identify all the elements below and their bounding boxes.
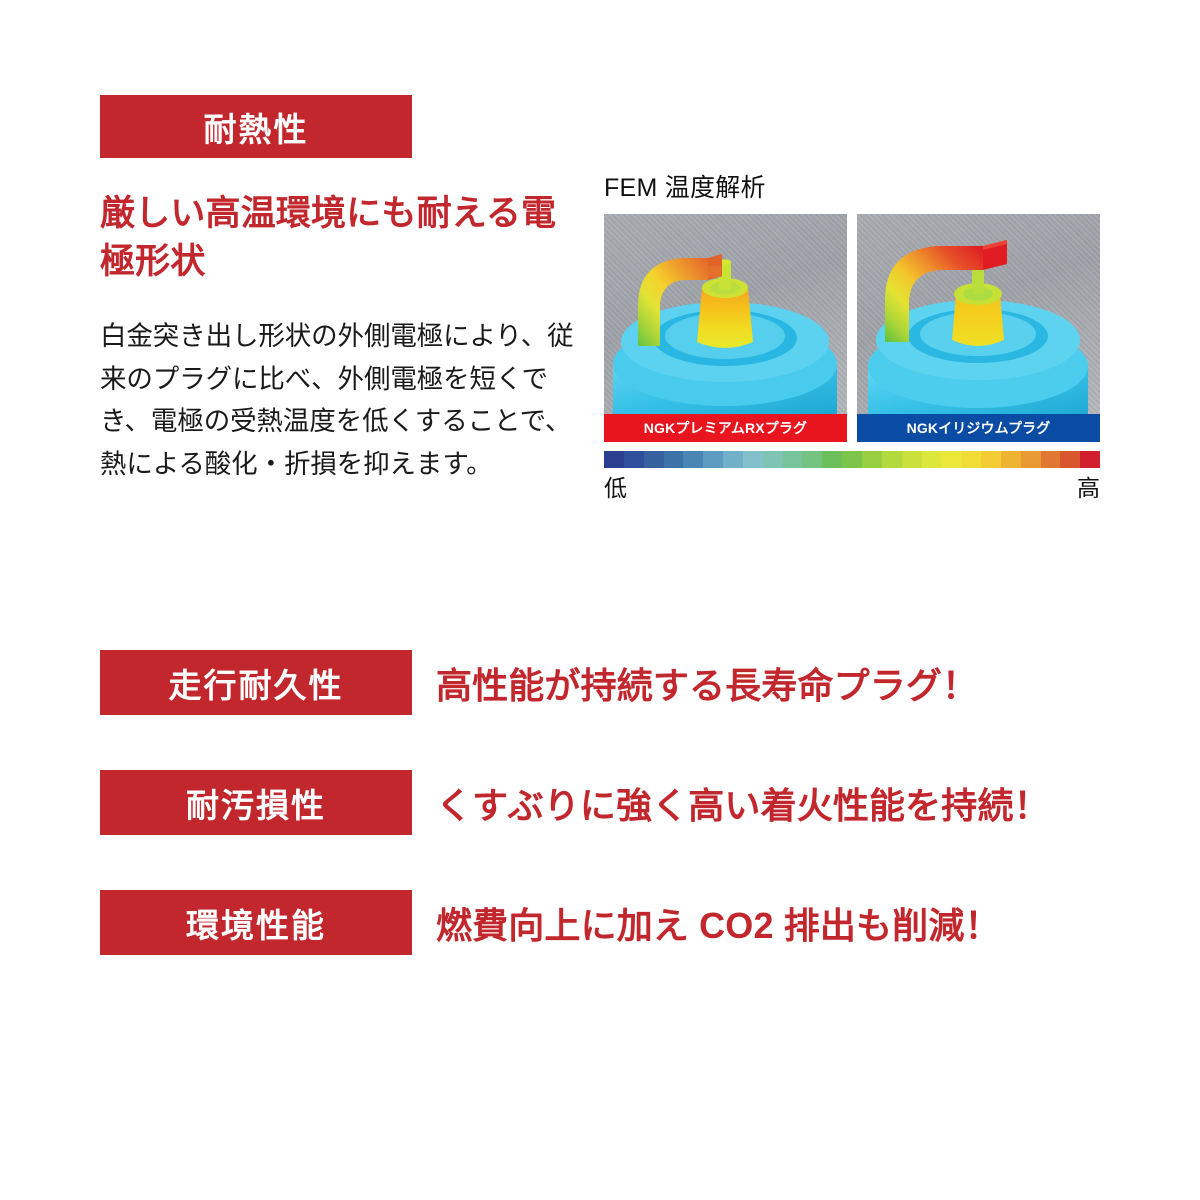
- heat-resistance-headline: 厳しい高温環境にも耐える電極形状: [100, 190, 590, 287]
- fem-color-scale: 低 高: [604, 451, 1100, 503]
- fem-scale-band-5: [703, 451, 723, 468]
- fem-scale-band-23: [1060, 451, 1080, 468]
- fem-thermal-render-iridium: [857, 214, 1100, 414]
- feature-row: 環境性能燃費向上に加え CO2 排出も削減！: [100, 890, 1100, 955]
- fem-scale-band-22: [1041, 451, 1061, 468]
- fem-thermal-image-premium-rx: [604, 214, 847, 414]
- fem-panel-label-premium-rx: NGKプレミアムRXプラグ: [604, 414, 847, 442]
- fem-scale-band-2: [644, 451, 664, 468]
- fem-scale-high-label: 高: [1077, 469, 1100, 503]
- fem-panel-label-iridium: NGKイリジウムプラグ: [857, 414, 1100, 442]
- fem-analysis-title: FEM 温度解析: [604, 168, 1100, 204]
- fem-thermal-image-iridium: [857, 214, 1100, 414]
- feature-list: 走行耐久性高性能が持続する長寿命プラグ！耐汚損性くすぶりに強く高い着火性能を持続…: [100, 650, 1100, 955]
- fem-scale-band-14: [882, 451, 902, 468]
- fem-color-scale-bar: [604, 451, 1100, 468]
- fem-panel-premium-rx: NGKプレミアムRXプラグ: [604, 214, 847, 442]
- feature-row: 耐汚損性くすぶりに強く高い着火性能を持続！: [100, 770, 1100, 835]
- feature-text-1: くすぶりに強く高い着火性能を持続！: [436, 777, 1050, 829]
- fem-scale-band-12: [842, 451, 862, 468]
- fem-panel-iridium: NGKイリジウムプラグ: [857, 214, 1100, 442]
- fem-scale-band-11: [822, 451, 842, 468]
- fem-scale-band-21: [1021, 451, 1041, 468]
- heat-resistance-badge: 耐熱性: [100, 95, 412, 158]
- fem-scale-band-3: [664, 451, 684, 468]
- fem-scale-band-16: [922, 451, 942, 468]
- heat-resistance-paragraph: 白金突き出し形状の外側電極により、従来のプラグに比べ、外側電極を短くでき、電極の…: [100, 315, 590, 487]
- fem-scale-band-17: [941, 451, 961, 468]
- feature-text-2: 燃費向上に加え CO2 排出も削減！: [436, 897, 1001, 949]
- fem-scale-band-9: [783, 451, 803, 468]
- fem-scale-band-10: [802, 451, 822, 468]
- fem-thermal-render-premium-rx: [604, 214, 847, 414]
- fem-scale-band-7: [743, 451, 763, 468]
- fem-panel-group: NGKプレミアムRXプラグ: [604, 214, 1100, 442]
- fem-scale-band-24: [1080, 451, 1100, 468]
- feature-badge-0: 走行耐久性: [100, 650, 412, 715]
- fem-scale-band-0: [604, 451, 624, 468]
- fem-scale-band-15: [902, 451, 922, 468]
- heat-resistance-body: 厳しい高温環境にも耐える電極形状 白金突き出し形状の外側電極により、従来のプラグ…: [100, 190, 1100, 525]
- heat-resistance-section: 耐熱性 厳しい高温環境にも耐える電極形状 白金突き出し形状の外側電極により、従来…: [100, 95, 1100, 525]
- feature-badge-1: 耐汚損性: [100, 770, 412, 835]
- fem-scale-band-13: [862, 451, 882, 468]
- feature-badge-2: 環境性能: [100, 890, 412, 955]
- heat-resistance-text-column: 厳しい高温環境にも耐える電極形状 白金突き出し形状の外側電極により、従来のプラグ…: [100, 190, 590, 525]
- feature-text-0: 高性能が持続する長寿命プラグ！: [436, 657, 978, 709]
- fem-scale-band-1: [624, 451, 644, 468]
- fem-scale-band-19: [981, 451, 1001, 468]
- fem-analysis-block: FEM 温度解析: [604, 168, 1100, 503]
- fem-scale-band-4: [683, 451, 703, 468]
- fem-color-scale-labels: 低 高: [604, 469, 1100, 503]
- feature-row: 走行耐久性高性能が持続する長寿命プラグ！: [100, 650, 1100, 715]
- fem-scale-band-6: [723, 451, 743, 468]
- fem-scale-band-18: [961, 451, 981, 468]
- fem-scale-band-8: [763, 451, 783, 468]
- fem-scale-band-20: [1001, 451, 1021, 468]
- fem-scale-low-label: 低: [604, 469, 627, 503]
